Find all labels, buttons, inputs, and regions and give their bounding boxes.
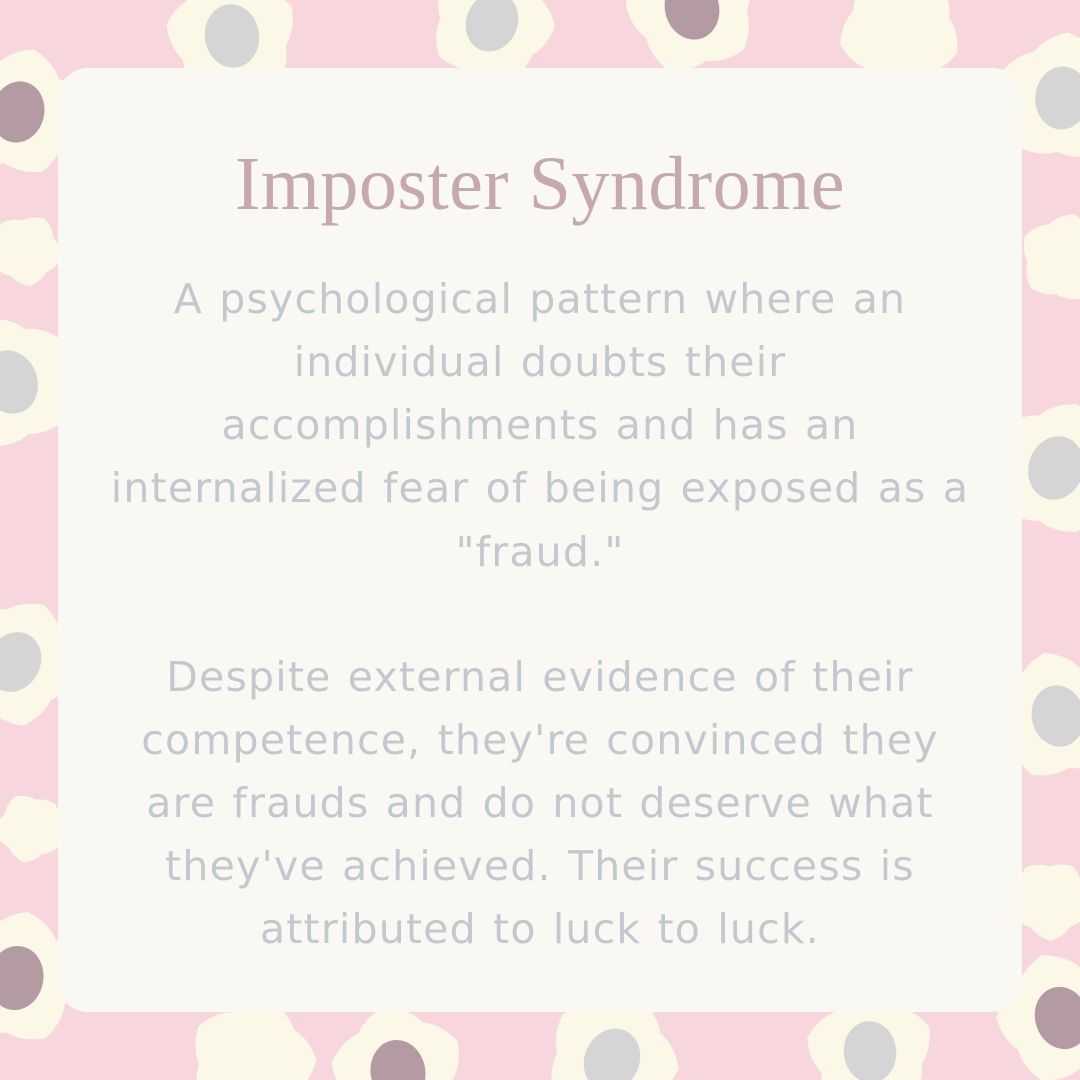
card-body: A psychological pattern where an individ…: [100, 268, 980, 961]
page-title: Imposter Syndrome: [235, 146, 845, 222]
body-paragraph-1: A psychological pattern where an individ…: [100, 268, 980, 584]
poster-canvas: Imposter Syndrome A psychological patter…: [0, 0, 1080, 1080]
body-paragraph-2: Despite external evidence of their compe…: [100, 646, 980, 962]
content-card: Imposter Syndrome A psychological patter…: [58, 68, 1022, 1012]
